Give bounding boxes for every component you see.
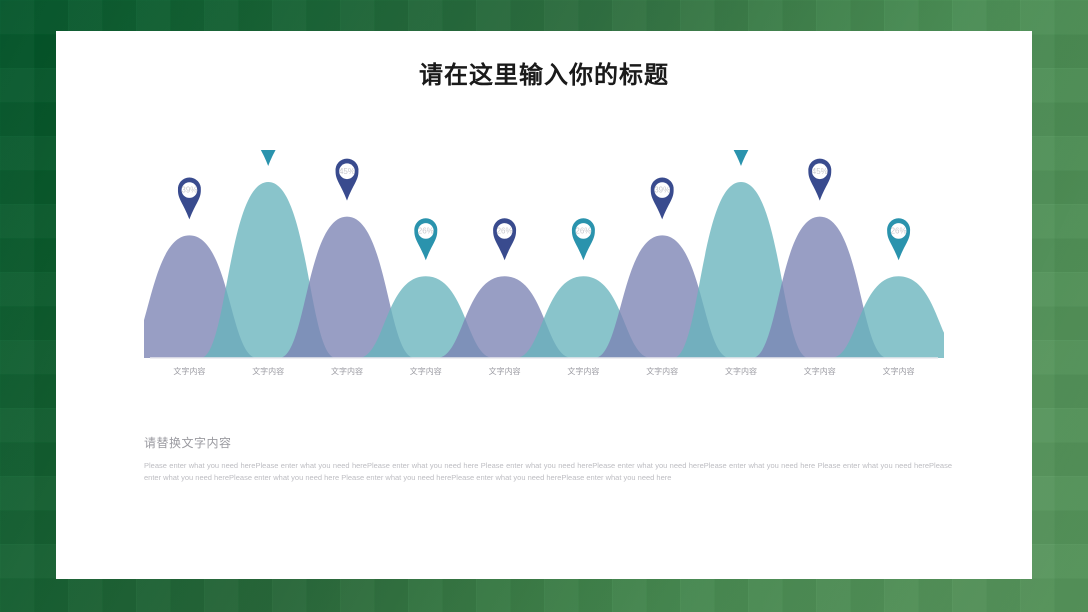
category-label: 文字内容 (489, 366, 521, 376)
category-label: 文字内容 (883, 366, 915, 376)
category-label: 文字内容 (410, 366, 442, 376)
value-pin[interactable]: 45% (336, 159, 359, 201)
page-title: 请在这里输入你的标题 (56, 55, 1032, 90)
category-label: 文字内容 (173, 366, 205, 376)
category-labels-group: 文字内容文字内容文字内容文字内容文字内容文字内容文字内容文字内容文字内容文字内容 (173, 366, 914, 376)
category-label: 文字内容 (331, 366, 363, 376)
pin-value-label: 39% (181, 186, 197, 195)
pin-value-label: 45% (812, 167, 828, 176)
pin-value-label: 26% (497, 227, 513, 236)
pin-value-label: 26% (891, 227, 907, 236)
value-pin[interactable]: 45% (808, 159, 831, 201)
value-pin[interactable]: 39% (178, 177, 201, 219)
category-label: 文字内容 (804, 366, 836, 376)
chart-svg: 39%56%45%26%26%26%39%56%45%26% 文字内容文字内容文… (144, 150, 944, 442)
pin-marker-icon (257, 150, 280, 166)
value-pin[interactable]: 26% (493, 218, 516, 260)
category-label: 文字内容 (567, 366, 599, 376)
pin-marker-icon (730, 150, 753, 166)
bottom-heading: 请替换文字内容 (144, 434, 952, 451)
value-pin[interactable]: 56% (730, 150, 753, 166)
bottom-text-block: 请替换文字内容 Please enter what you need hereP… (144, 434, 952, 485)
category-label: 文字内容 (252, 366, 284, 376)
value-pin[interactable]: 39% (651, 177, 674, 219)
pin-value-label: 39% (654, 186, 670, 195)
content-card: 请在这里输入你的标题 39%56%45%26%26%26%39%56%45%26… (56, 31, 1032, 579)
hills-chart[interactable]: 39%56%45%26%26%26%39%56%45%26% 文字内容文字内容文… (144, 150, 944, 442)
value-pin[interactable]: 26% (572, 218, 595, 260)
value-pin[interactable]: 26% (887, 218, 910, 260)
category-label: 文字内容 (646, 366, 678, 376)
pin-value-label: 26% (418, 227, 434, 236)
bottom-paragraph: Please enter what you need herePlease en… (144, 460, 952, 485)
value-pin[interactable]: 56% (257, 150, 280, 166)
slide-canvas: 请在这里输入你的标题 39%56%45%26%26%26%39%56%45%26… (0, 0, 1088, 612)
category-label: 文字内容 (725, 366, 757, 376)
hills-group (144, 182, 944, 358)
value-pin[interactable]: 26% (414, 218, 437, 260)
pin-value-label: 26% (575, 227, 591, 236)
pin-value-label: 45% (339, 167, 355, 176)
